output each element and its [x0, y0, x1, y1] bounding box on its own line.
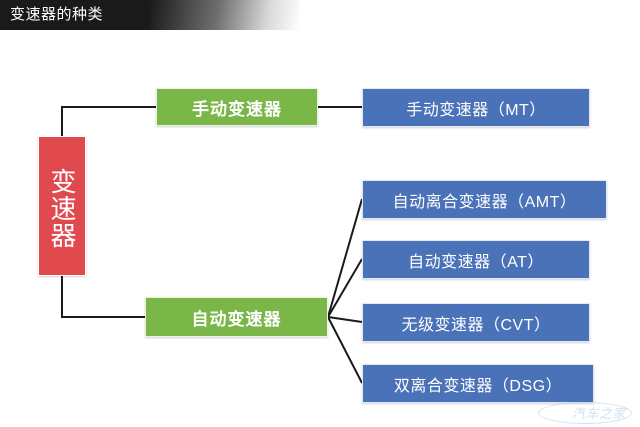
node-leaf-mt[interactable]: 手动变速器（MT） [362, 88, 590, 127]
node-leaf-amt[interactable]: 自动离合变速器（AMT） [362, 180, 607, 219]
node-branch-automatic[interactable]: 自动变速器 [145, 297, 328, 337]
watermark: 汽车之家 [538, 399, 634, 425]
node-leaf-cvt[interactable]: 无级变速器（CVT） [362, 303, 590, 342]
node-branch-manual-label: 手动变速器 [192, 95, 282, 120]
node-leaf-cvt-label: 无级变速器（CVT） [401, 311, 550, 335]
node-root-transmission[interactable]: 变速器 [38, 136, 86, 276]
node-leaf-amt-label: 自动离合变速器（AMT） [393, 188, 577, 212]
node-leaf-dsg-label: 双离合变速器（DSG） [394, 372, 562, 396]
slide-canvas: 变速器的种类 变速器 手动变速器 自动变速器 手动变速器（MT） 自动离合变速器… [0, 0, 640, 427]
watermark-text: 汽车之家 [572, 403, 634, 422]
node-branch-automatic-label: 自动变速器 [192, 305, 282, 330]
node-leaf-mt-label: 手动变速器（MT） [406, 96, 546, 120]
node-leaf-at-label: 自动变速器（AT） [408, 248, 544, 272]
node-leaf-dsg[interactable]: 双离合变速器（DSG） [362, 364, 594, 403]
node-leaf-at[interactable]: 自动变速器（AT） [362, 240, 590, 279]
node-root-label: 变速器 [47, 168, 77, 249]
node-branch-manual[interactable]: 手动变速器 [156, 88, 318, 126]
